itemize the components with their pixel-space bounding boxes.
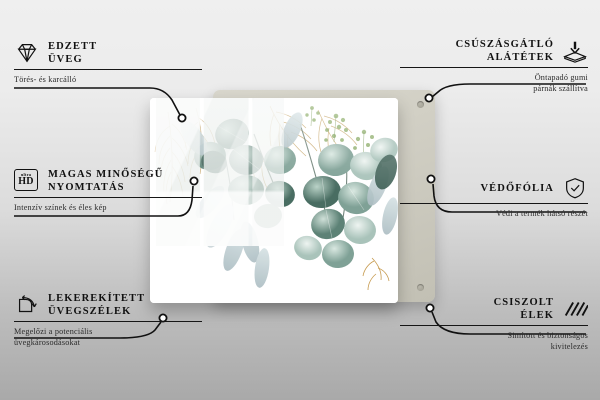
diamond-icon bbox=[14, 41, 40, 65]
feature-polished-edges: CSISZOLT ÉLEK Simított és biztonságos ki… bbox=[400, 296, 588, 352]
feature-rounded-edges: LEKEREKÍTETT ÜVEGSZÉLEK Megelőzi a poten… bbox=[14, 292, 202, 348]
ultra-hd-icon: ultra HD bbox=[14, 169, 40, 193]
rounded-corner-icon bbox=[14, 293, 40, 317]
feature-high-quality-print: ultra HD MAGAS MINŐSÉGŰ NYOMTATÁS Intenz… bbox=[14, 168, 202, 213]
feature-divider bbox=[14, 197, 202, 198]
feature-subtitle: Törés- és karcálló bbox=[14, 74, 202, 85]
feature-subtitle: Megelőzi a potenciális üvegkárosodásokat bbox=[14, 326, 202, 348]
feature-title: CSISZOLT ÉLEK bbox=[494, 296, 554, 322]
feature-title: MAGAS MINŐSÉGŰ NYOMTATÁS bbox=[48, 168, 163, 194]
feature-subtitle: Intenzív színek és éles kép bbox=[14, 202, 202, 213]
shield-check-icon bbox=[562, 176, 588, 200]
feature-anti-slip-pads: CSÚSZÁSGÁTLÓ ALÁTÉTEK Öntapadó gumi párn… bbox=[400, 38, 588, 94]
feature-divider bbox=[400, 203, 588, 204]
feature-title: LEKEREKÍTETT ÜVEGSZÉLEK bbox=[48, 292, 145, 318]
feature-protective-film: VÉDŐFÓLIA Védi a termék hátsó részét bbox=[400, 176, 588, 219]
polished-edge-icon bbox=[562, 297, 588, 321]
mounting-hole-bottom bbox=[417, 284, 424, 291]
feature-tempered-glass: EDZETT ÜVEG Törés- és karcálló bbox=[14, 40, 202, 85]
feature-divider bbox=[14, 69, 202, 70]
feature-divider bbox=[14, 321, 202, 322]
feature-title: CSÚSZÁSGÁTLÓ ALÁTÉTEK bbox=[456, 38, 554, 64]
feature-subtitle: Védi a termék hátsó részét bbox=[400, 208, 588, 219]
feature-subtitle: Simított és biztonságos kivitelezés bbox=[400, 330, 588, 352]
mounting-hole-top bbox=[417, 101, 424, 108]
ultra-hd-icon-bottom-label: HD bbox=[18, 177, 34, 187]
feature-divider bbox=[400, 325, 588, 326]
feature-subtitle: Öntapadó gumi párnák szállítva bbox=[400, 72, 588, 94]
feature-title: EDZETT ÜVEG bbox=[48, 40, 97, 66]
product-feature-infographic: EDZETT ÜVEG Törés- és karcálló ultra HD … bbox=[0, 0, 600, 400]
anti-slip-pad-icon bbox=[562, 39, 588, 63]
feature-divider bbox=[400, 67, 588, 68]
feature-title: VÉDŐFÓLIA bbox=[481, 182, 555, 195]
